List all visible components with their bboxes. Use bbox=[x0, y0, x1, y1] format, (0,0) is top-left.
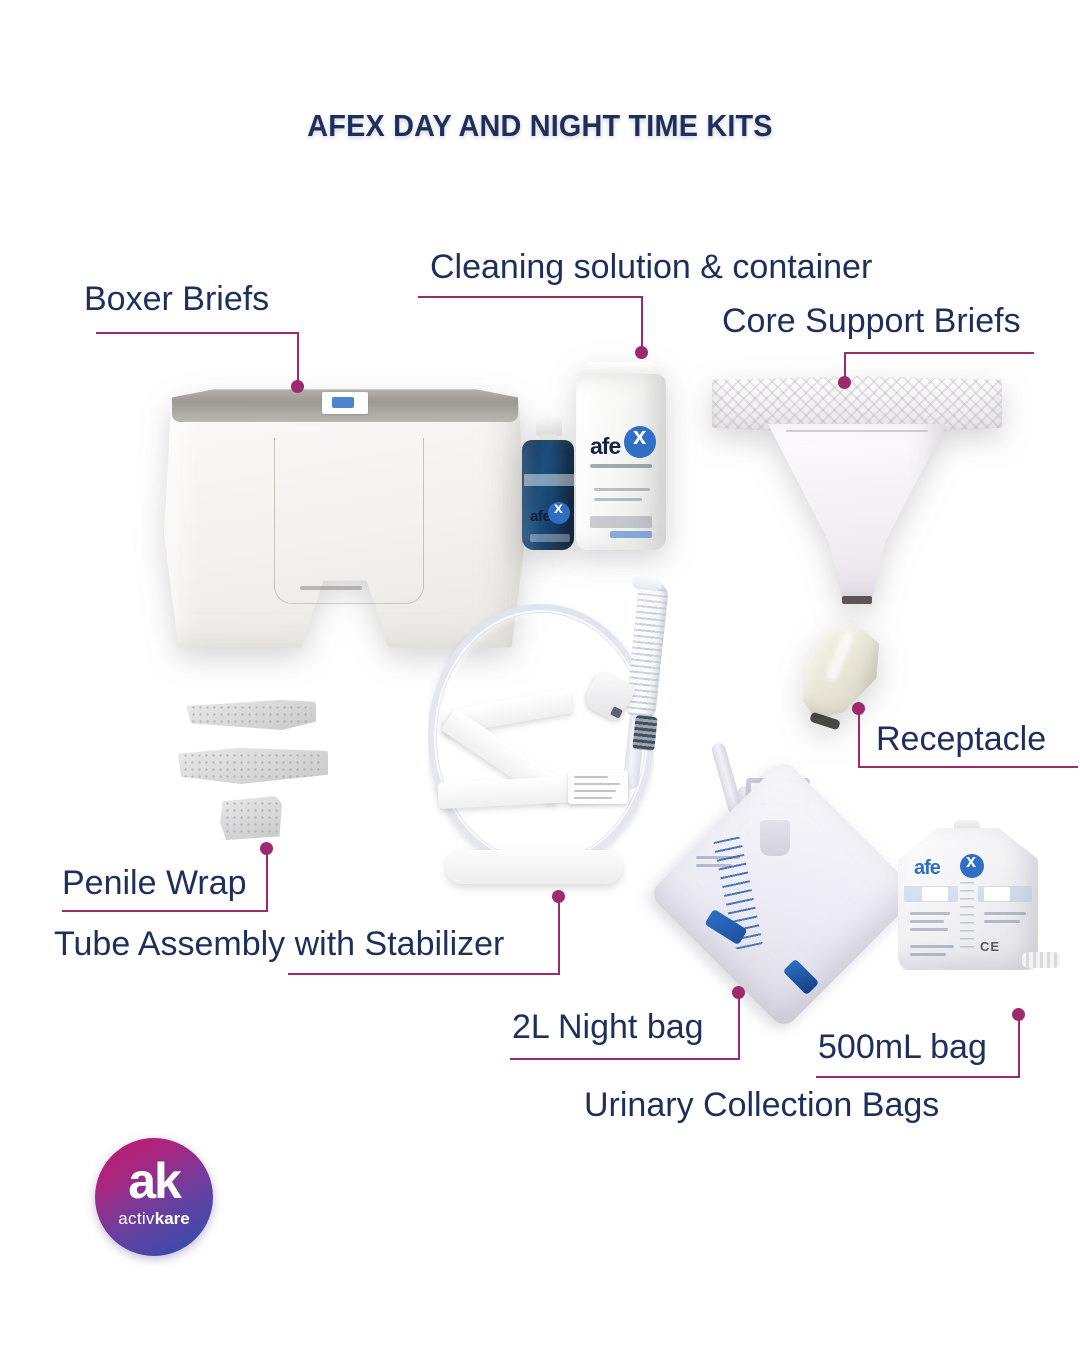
label-text-line bbox=[574, 790, 616, 792]
product-leg-bag: afe CE bbox=[898, 820, 1048, 980]
leg-bag-label-window bbox=[922, 887, 948, 901]
wrap-mesh-texture bbox=[190, 704, 312, 726]
leg-bag-text-line bbox=[910, 920, 944, 923]
container-body: afe bbox=[576, 374, 666, 550]
label-leg-bag: 500mL bag bbox=[818, 1030, 987, 1066]
logo-wordmark: activkare bbox=[95, 1210, 213, 1227]
leg-bag-text-line bbox=[910, 912, 950, 915]
leader-line-boxer-briefs bbox=[96, 332, 298, 334]
stabilizer-strap-label bbox=[568, 770, 628, 804]
leg-bag-reservoir: afe CE bbox=[898, 828, 1038, 970]
label-urinary-collection-bags: Urinary Collection Bags bbox=[584, 1088, 939, 1124]
leader-dot-boxer-briefs bbox=[291, 380, 304, 393]
leg-bag-text-line bbox=[984, 920, 1020, 923]
boxer-briefs-brand-tag bbox=[322, 392, 368, 414]
container-afex-logo: afe bbox=[590, 426, 656, 460]
leg-bag-text-line bbox=[910, 953, 946, 956]
logo-wordmark-activ: activ bbox=[118, 1209, 154, 1228]
leader-line-cleaning-solution bbox=[641, 296, 643, 352]
leader-line-core-support-briefs bbox=[844, 352, 1034, 354]
wrap-mesh-texture bbox=[182, 752, 324, 780]
leader-line-boxer-briefs bbox=[297, 332, 299, 386]
label-cleaning-solution: Cleaning solution & container bbox=[430, 250, 872, 286]
night-bag-reservoir bbox=[648, 758, 920, 1030]
leader-line-night-bag bbox=[738, 992, 740, 1060]
label-text-line bbox=[574, 797, 612, 799]
product-cleaning-container: afe bbox=[576, 362, 666, 550]
leg-bag-text-line bbox=[984, 912, 1026, 915]
leg-bag-connector bbox=[1022, 952, 1060, 968]
leader-dot-leg-bag bbox=[1012, 1008, 1025, 1021]
product-night-bag bbox=[680, 742, 910, 990]
tube-ribbed-connector bbox=[625, 581, 669, 721]
leader-dot-cleaning-solution bbox=[635, 346, 648, 359]
logo-wordmark-kare: kare bbox=[155, 1209, 190, 1228]
leader-line-leg-bag bbox=[816, 1076, 1020, 1078]
container-bottom-accent bbox=[610, 531, 652, 538]
boxer-briefs-fly-opening bbox=[300, 586, 362, 590]
bottle-label-stripe bbox=[524, 474, 576, 486]
label-core-support-briefs: Core Support Briefs bbox=[722, 304, 1021, 340]
activkare-logo: ak activkare bbox=[95, 1138, 213, 1256]
label-penile-wrap: Penile Wrap bbox=[62, 866, 247, 902]
tube-fabric-sleeve bbox=[446, 850, 622, 884]
leader-line-cleaning-solution bbox=[418, 296, 642, 298]
support-briefs-tab bbox=[842, 596, 872, 604]
bottle-body: afe bbox=[522, 440, 574, 550]
penile-wrap-cuff bbox=[220, 796, 282, 840]
label-text-line bbox=[574, 783, 620, 785]
leg-bag-graduation-column bbox=[960, 882, 974, 948]
leader-line-receptacle bbox=[858, 766, 1078, 768]
leader-dot-tube-assembly bbox=[552, 890, 565, 903]
container-afex-x-mark bbox=[624, 426, 656, 458]
container-tagline-bar bbox=[590, 464, 652, 468]
container-text-line bbox=[594, 498, 642, 501]
leader-line-leg-bag bbox=[1018, 1014, 1020, 1078]
logo-monogram: ak bbox=[95, 1156, 213, 1206]
page-title: AFEX DAY AND NIGHT TIME KITS bbox=[38, 108, 1042, 144]
support-briefs-seam bbox=[786, 430, 928, 432]
label-tube-assembly: Tube Assembly with Stabilizer bbox=[54, 927, 504, 963]
support-briefs-pouch bbox=[768, 424, 946, 602]
boxer-briefs-fly-panel bbox=[274, 438, 424, 604]
wrap-mesh-texture bbox=[224, 800, 278, 836]
container-text-line bbox=[594, 488, 650, 491]
leader-line-penile-wrap bbox=[266, 848, 268, 912]
leader-line-penile-wrap bbox=[62, 910, 268, 912]
leg-bag-afex-text: afe bbox=[914, 857, 940, 880]
product-tube-assembly bbox=[420, 580, 720, 900]
product-receptacle bbox=[800, 618, 880, 728]
bottle-afex-x-mark bbox=[548, 502, 570, 524]
leg-bag-text-line bbox=[910, 945, 954, 948]
penile-wrap-strip-1 bbox=[186, 700, 316, 730]
leg-bag-afex-logo: afe bbox=[914, 854, 984, 880]
leg-bag-label-window bbox=[984, 887, 1010, 901]
label-night-bag: 2L Night bag bbox=[512, 1010, 704, 1046]
infographic-canvas: AFEX DAY AND NIGHT TIME KITS afe afe bbox=[0, 0, 1080, 1350]
tube-connector-cap bbox=[631, 574, 662, 591]
leader-dot-core-support-briefs bbox=[838, 376, 851, 389]
product-core-support-briefs bbox=[712, 372, 1002, 604]
bottle-footer-label bbox=[530, 534, 570, 542]
leader-line-night-bag bbox=[510, 1058, 740, 1060]
product-penile-wrap bbox=[178, 700, 358, 840]
product-cleaning-solution-bottle: afe bbox=[520, 418, 576, 550]
leader-line-tube-assembly bbox=[288, 973, 560, 975]
container-bottom-label bbox=[590, 516, 652, 528]
container-afex-text: afe bbox=[590, 433, 620, 460]
label-text-line bbox=[574, 776, 608, 778]
tube-coupling bbox=[632, 715, 657, 751]
leader-line-receptacle bbox=[858, 708, 860, 768]
leader-dot-penile-wrap bbox=[260, 842, 273, 855]
leg-bag-text-line bbox=[910, 928, 948, 931]
label-receptacle: Receptacle bbox=[876, 722, 1046, 758]
leader-dot-night-bag bbox=[732, 986, 745, 999]
leader-line-tube-assembly bbox=[558, 896, 560, 975]
leg-bag-ce-mark: CE bbox=[980, 939, 1000, 954]
bottle-afex-logo: afe bbox=[530, 502, 570, 528]
penile-wrap-strip-2 bbox=[178, 748, 328, 784]
leg-bag-afex-x-mark bbox=[960, 854, 984, 878]
label-boxer-briefs: Boxer Briefs bbox=[84, 282, 269, 318]
night-bag-text-line bbox=[696, 864, 732, 867]
night-bag-inlet-port bbox=[760, 820, 790, 856]
night-bag-text-line bbox=[696, 856, 740, 859]
